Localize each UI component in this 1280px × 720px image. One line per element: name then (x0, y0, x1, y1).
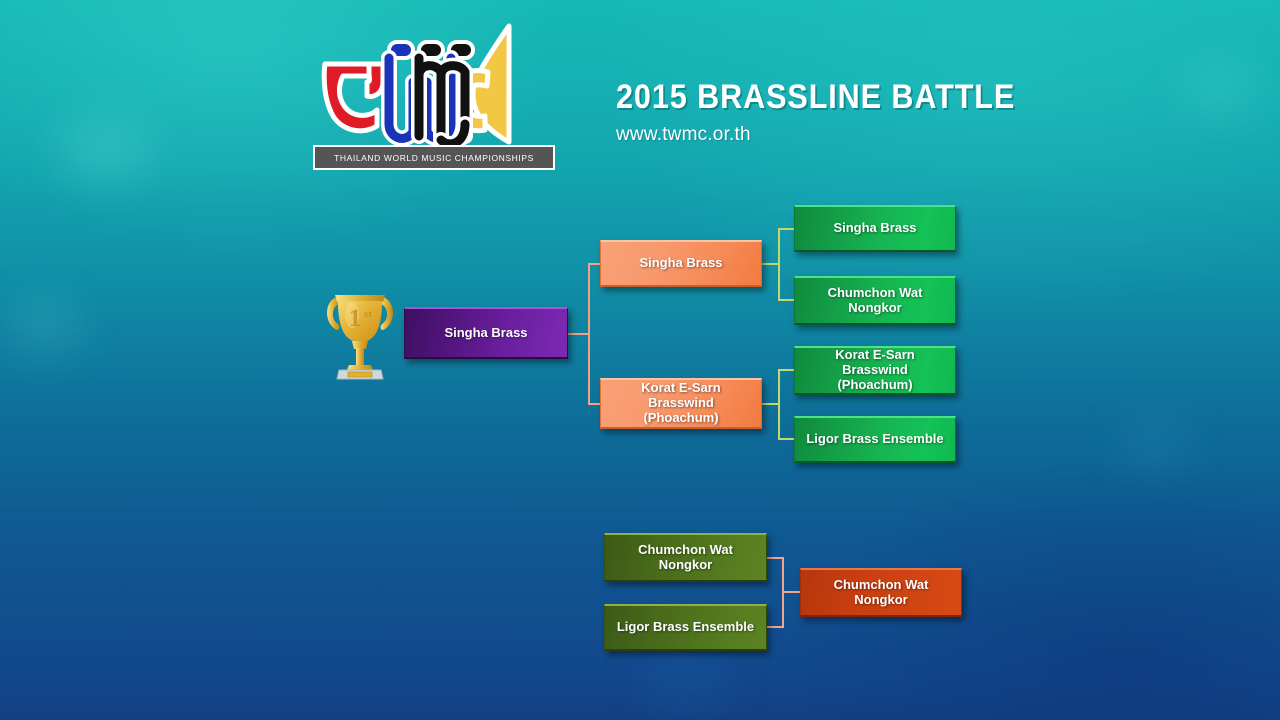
semifinal-2-label-line1: Korat E-Sarn Brasswind (607, 381, 755, 411)
logo-tagline-text: THAILAND WORLD MUSIC CHAMPIONSHIPS (315, 147, 553, 168)
consolation-entrant-box-2[interactable]: Ligor Brass Ensemble (604, 604, 767, 651)
quarterfinal-3-label-line1: Korat E-Sarn Brasswind (801, 348, 949, 378)
connector-sf1-vertical (778, 229, 780, 301)
connector-champion-stub (568, 333, 590, 335)
third-place-winner-label-line1: Chumchon Wat (834, 578, 929, 593)
quarterfinal-box-2[interactable]: Chumchon Wat Nongkor (794, 276, 956, 325)
quarterfinal-1-label: Singha Brass (833, 221, 916, 236)
consolation-entrant-1-label-line2: Nongkor (659, 558, 712, 573)
consolation-entrant-box-1[interactable]: Chumchon Wat Nongkor (604, 533, 767, 582)
bokeh-blob (60, 120, 150, 180)
connector-consolation-bottom-stub (767, 626, 784, 628)
connector-qf4-stub (778, 438, 795, 440)
quarterfinal-4-label: Ligor Brass Ensemble (806, 432, 943, 447)
quarterfinal-box-1[interactable]: Singha Brass (794, 205, 956, 252)
connector-consolation-winner-stub (782, 591, 800, 593)
first-place-trophy-icon: 1 st (321, 281, 399, 381)
semifinal-1-label: Singha Brass (639, 256, 722, 271)
connector-qf1-stub (778, 228, 795, 230)
semifinal-box-1[interactable]: Singha Brass (600, 240, 762, 287)
quarterfinal-box-4[interactable]: Ligor Brass Ensemble (794, 416, 956, 463)
svg-text:1: 1 (349, 305, 362, 332)
quarterfinal-box-3[interactable]: Korat E-Sarn Brasswind (Phoachum) (794, 346, 956, 395)
svg-text:st: st (364, 308, 372, 320)
third-place-winner-label-line2: Nongkor (854, 593, 907, 608)
champion-box[interactable]: Singha Brass (404, 307, 568, 359)
bracket-canvas: THAILAND WORLD MUSIC CHAMPIONSHIPS 2015 … (0, 0, 1280, 720)
bokeh-blob (640, 660, 730, 710)
connector-qf2-stub (778, 299, 795, 301)
consolation-entrant-2-label: Ligor Brass Ensemble (617, 620, 754, 635)
quarterfinal-3-label-line2: (Phoachum) (837, 378, 912, 393)
third-place-winner-box[interactable]: Chumchon Wat Nongkor (800, 568, 962, 617)
quarterfinal-2-label-line2: Nongkor (848, 301, 901, 316)
consolation-entrant-1-label-line1: Chumchon Wat (638, 543, 733, 558)
semifinal-box-2[interactable]: Korat E-Sarn Brasswind (Phoachum) (600, 378, 762, 429)
bokeh-blob (1180, 60, 1260, 115)
page-title: 2015 BRASSLINE BATTLE (616, 80, 1015, 114)
website-url: www.twmc.or.th (616, 124, 751, 146)
connector-sf2-vertical (778, 370, 780, 439)
logo-tagline-strip: THAILAND WORLD MUSIC CHAMPIONSHIPS (313, 145, 555, 170)
bokeh-blob (1120, 420, 1190, 470)
connector-qf3-stub (778, 369, 795, 371)
semifinal-2-label-line2: (Phoachum) (643, 411, 718, 426)
connector-champion-vertical (588, 264, 590, 404)
champion-label: Singha Brass (444, 326, 527, 341)
bokeh-blob (10, 300, 80, 350)
quarterfinal-2-label-line1: Chumchon Wat (828, 286, 923, 301)
